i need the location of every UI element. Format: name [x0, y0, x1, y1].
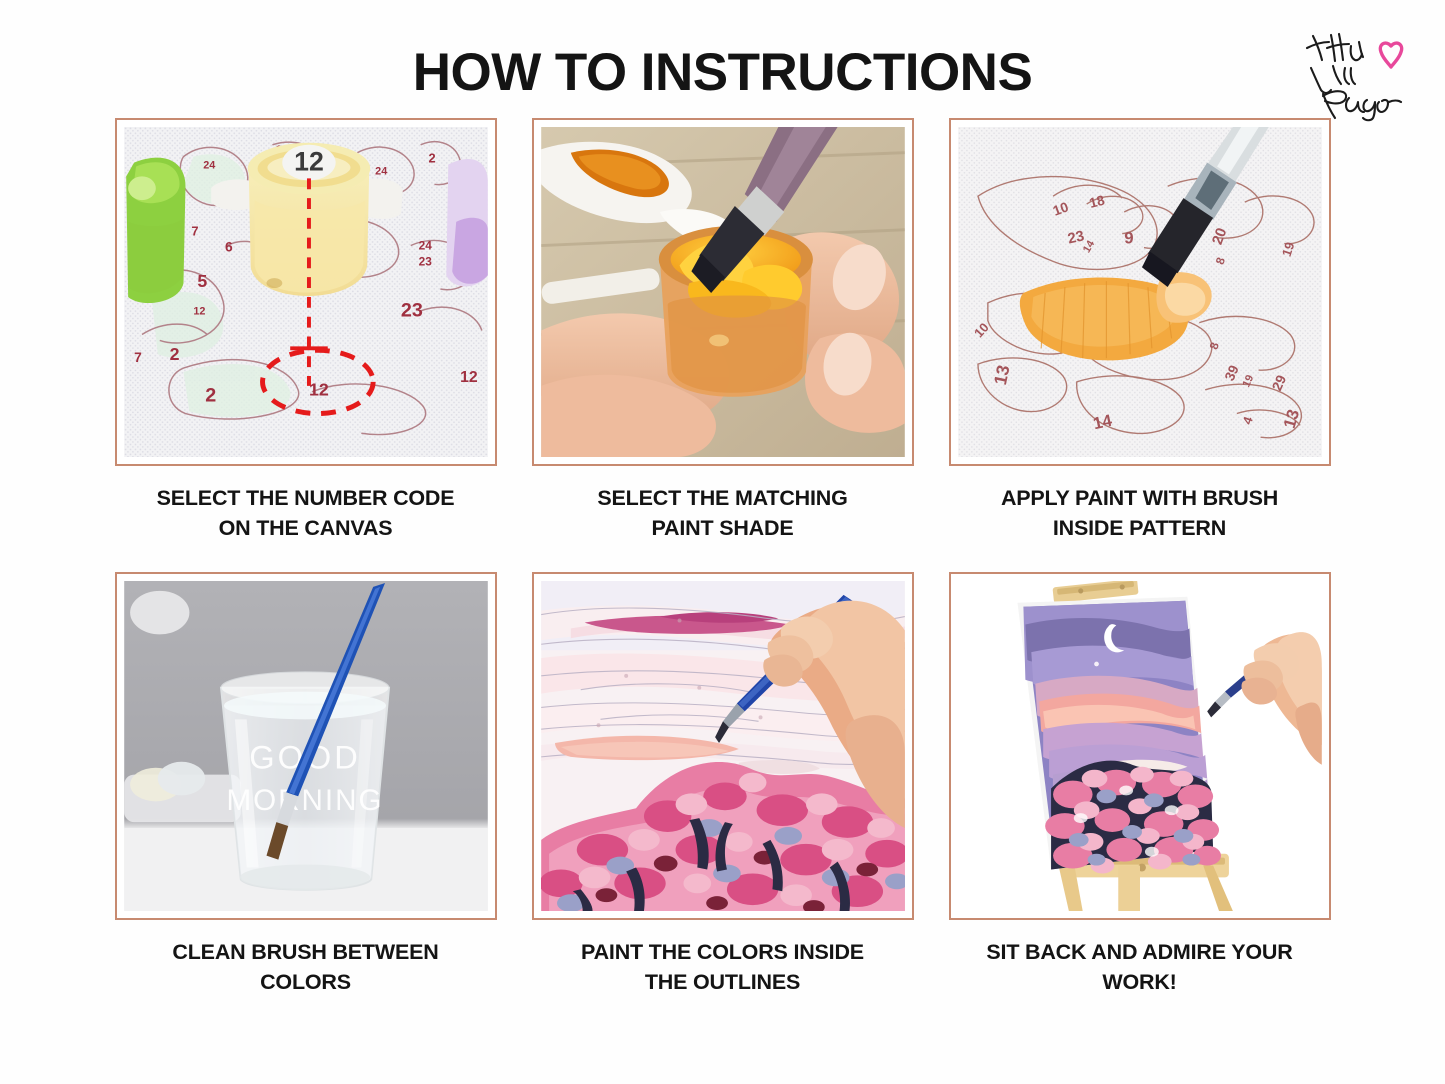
canvas-number: 23: [400, 300, 422, 322]
page-title: HOW TO INSTRUCTIONS: [0, 42, 1445, 103]
step-2-caption-line-1: SELECT THE MATCHING: [597, 486, 847, 510]
canvas-number: 23: [418, 254, 432, 268]
step-1-caption-line-1: SELECT THE NUMBER CODE: [157, 486, 455, 510]
step-5-caption-line-2: THE OUTLINES: [532, 967, 914, 997]
steps-row-bottom: GOOD MORNING CLEAN BRUSH BETWEEN COLORS: [0, 572, 1445, 997]
step-6-caption-line-2: WORK!: [949, 967, 1331, 997]
step-card-5: PAINT THE COLORS INSIDE THE OUTLINES: [532, 572, 914, 997]
step-4-image-frame: GOOD MORNING: [115, 572, 497, 920]
steps-grid: 12 24 2 24 7 6 5 12 7 2 2 23 24 23: [0, 118, 1445, 997]
brush-dipping-in-orange-paint-pot-photo: [541, 127, 905, 457]
canvas-number: 2: [428, 151, 435, 166]
canvas-number: 7: [134, 349, 142, 365]
canvas-number: 13: [989, 363, 1013, 387]
little-luv-pages-logo: [1293, 22, 1423, 122]
step-1-caption-line-2: ON THE CANVAS: [115, 513, 497, 543]
step-3-caption-line-2: INSIDE PATTERN: [949, 513, 1331, 543]
canvas-number: 2: [169, 344, 179, 364]
canvas-target-number: 12: [308, 380, 328, 400]
water-glass: [221, 672, 389, 890]
step-6-image-frame: [949, 572, 1331, 920]
finished-canvas: [1017, 597, 1221, 874]
canvas-number: 9: [1124, 229, 1133, 248]
step-card-1: 12 24 2 24 7 6 5 12 7 2 2 23 24 23: [115, 118, 497, 543]
finished-painting-on-easel-photo: [958, 581, 1322, 911]
step-6-caption: SIT BACK AND ADMIRE YOUR WORK!: [949, 937, 1331, 997]
glass-text-line-2: MORNING: [226, 784, 383, 817]
step-card-4: GOOD MORNING CLEAN BRUSH BETWEEN COLORS: [115, 572, 497, 997]
step-4-caption-line-1: CLEAN BRUSH BETWEEN: [172, 940, 438, 964]
step-5-caption-line-1: PAINT THE COLORS INSIDE: [581, 940, 864, 964]
hand-painting-cherry-blossom-canvas-photo: [541, 581, 905, 911]
canvas-number: 7: [191, 224, 198, 239]
step-1-image-frame: 12 24 2 24 7 6 5 12 7 2 2 23 24 23: [115, 118, 497, 466]
step-2-caption: SELECT THE MATCHING PAINT SHADE: [532, 483, 914, 543]
purple-paint-pot: [446, 159, 487, 286]
step-1-caption: SELECT THE NUMBER CODE ON THE CANVAS: [115, 483, 497, 543]
canvas-number: 24: [375, 165, 387, 177]
step-4-caption-line-2: COLORS: [115, 967, 497, 997]
canvas-number: 24: [418, 239, 432, 253]
green-paint-pot: [126, 158, 185, 303]
step-3-caption: APPLY PAINT WITH BRUSH INSIDE PATTERN: [949, 483, 1331, 543]
canvas-number: 24: [203, 159, 215, 171]
brush-rinsing-in-water-glass-photo: GOOD MORNING: [124, 581, 488, 911]
paint-pot-on-numbered-canvas-photo: 12 24 2 24 7 6 5 12 7 2 2 23 24 23: [124, 127, 488, 457]
step-3-image-frame: 10 18 23 14 9 8 20 8 19 10 20 8 13 14: [949, 118, 1331, 466]
heart-icon: [1380, 43, 1401, 67]
step-4-caption: CLEAN BRUSH BETWEEN COLORS: [115, 937, 497, 997]
step-card-2: SELECT THE MATCHING PAINT SHADE: [532, 118, 914, 543]
brush-applying-paint-inside-outlines-photo: 10 18 23 14 9 8 20 8 19 10 20 8 13 14: [958, 127, 1322, 457]
canvas-number: 12: [460, 369, 478, 386]
step-2-caption-line-2: PAINT SHADE: [532, 513, 914, 543]
step-card-6: SIT BACK AND ADMIRE YOUR WORK!: [949, 572, 1331, 997]
steps-row-top: 12 24 2 24 7 6 5 12 7 2 2 23 24 23: [0, 118, 1445, 543]
step-3-caption-line-1: APPLY PAINT WITH BRUSH: [1001, 486, 1278, 510]
step-card-3: 10 18 23 14 9 8 20 8 19 10 20 8 13 14: [949, 118, 1331, 543]
step-2-image-frame: [532, 118, 914, 466]
step-5-image-frame: [532, 572, 914, 920]
canvas-number: 2: [205, 385, 216, 407]
canvas-number: 6: [224, 238, 232, 254]
canvas-number: 12: [193, 306, 205, 318]
canvas-blossoms: [1045, 761, 1221, 874]
step-6-caption-line-1: SIT BACK AND ADMIRE YOUR: [986, 940, 1292, 964]
canvas-number: 5: [197, 271, 207, 291]
step-5-caption: PAINT THE COLORS INSIDE THE OUTLINES: [532, 937, 914, 997]
pot-number-label: 12: [294, 146, 324, 176]
